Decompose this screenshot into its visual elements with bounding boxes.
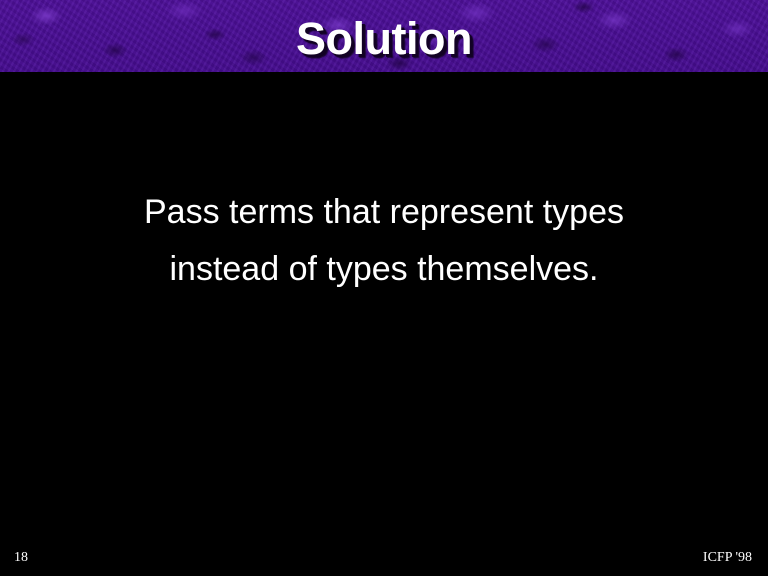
presentation-slide: Solution Pass terms that represent types… (0, 0, 768, 576)
slide-conference-label: ICFP '98 (703, 550, 752, 566)
body-line-1: Pass terms that represent types (64, 184, 704, 241)
title-banner: Solution (0, 0, 768, 72)
body-line-2: instead of types themselves. (64, 241, 704, 298)
slide-title: Solution (0, 14, 768, 64)
slide-body: Pass terms that represent types instead … (64, 184, 704, 298)
slide-page-number: 18 (14, 550, 28, 566)
